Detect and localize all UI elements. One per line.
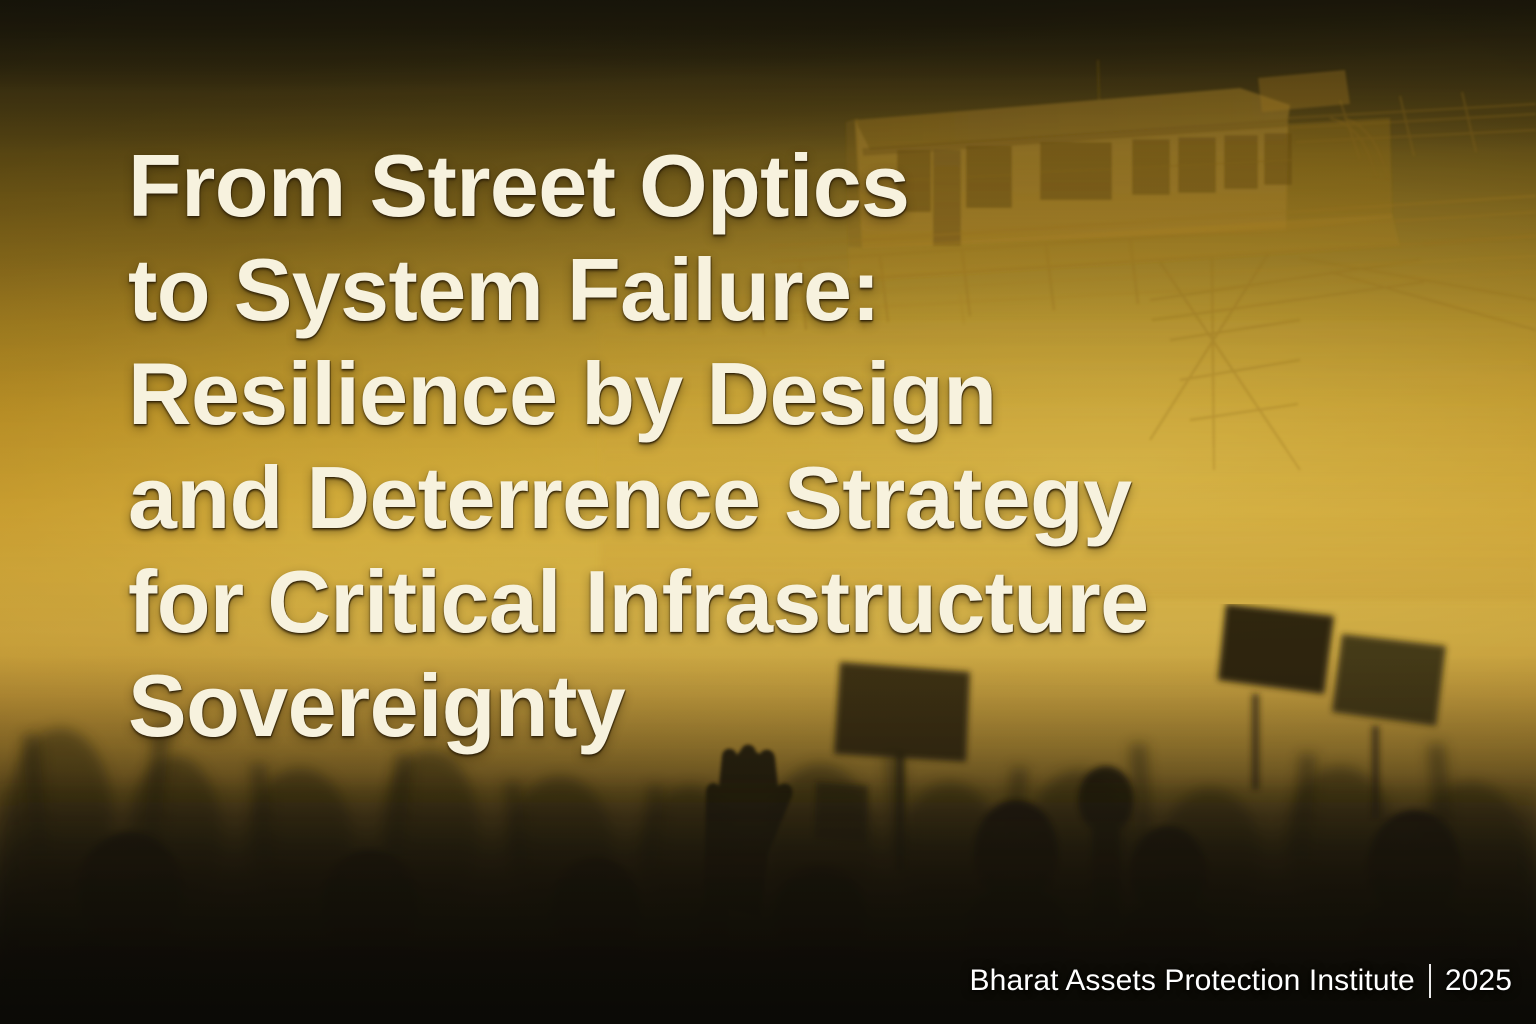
title-line-5: for Critical Infrastructure xyxy=(128,550,1308,654)
title-line-3: Resilience by Design xyxy=(128,342,1308,446)
title-line-6: Sovereignty xyxy=(128,654,1308,758)
footer-organization: Bharat Assets Protection Institute xyxy=(970,964,1415,998)
title-line-4: and Deterrence Strategy xyxy=(128,446,1308,550)
footer-year: 2025 xyxy=(1445,964,1512,998)
title-line-1: From Street Optics xyxy=(128,134,1308,238)
page-title: From Street Optics to System Failure: Re… xyxy=(128,134,1308,758)
title-slide: From Street Optics to System Failure: Re… xyxy=(0,0,1536,1024)
title-line-2: to System Failure: xyxy=(128,238,1308,342)
footer-divider xyxy=(1429,964,1431,998)
slide-footer: Bharat Assets Protection Institute 2025 xyxy=(970,964,1512,998)
